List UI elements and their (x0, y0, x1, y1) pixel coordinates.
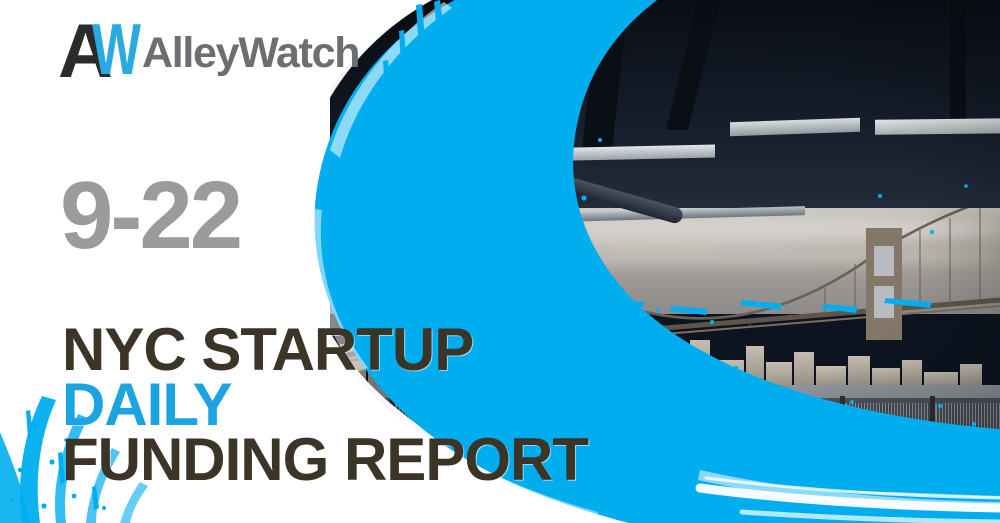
headline-line-2: DAILY (62, 377, 588, 432)
alleywatch-funding-report-poster: A W AlleyWatch 9-22 NYC STARTUP DAILY FU… (0, 0, 1000, 523)
logo-letter-w: W (92, 21, 141, 79)
alleywatch-logo-mark: A W (58, 24, 136, 82)
alleywatch-wordmark: AlleyWatch (142, 32, 359, 75)
headline-line-3: FUNDING REPORT (62, 432, 588, 487)
alleywatch-logo[interactable]: A W AlleyWatch (58, 18, 359, 88)
issue-date: 9-22 (60, 168, 240, 264)
headline-line-1: NYC STARTUP (62, 322, 588, 377)
headline-block: NYC STARTUP DAILY FUNDING REPORT (62, 322, 588, 488)
